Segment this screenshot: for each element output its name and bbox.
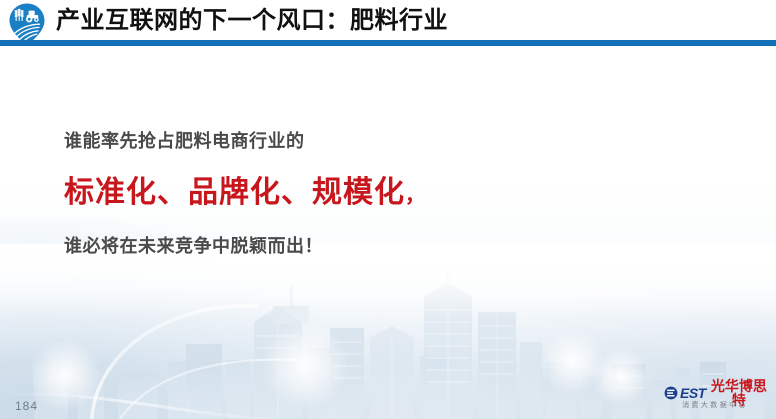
- brand-logo: EST 光华博思特 消费大数据中心: [664, 384, 768, 414]
- page-title: 产业互联网的下一个风口：肥料行业: [56, 6, 448, 36]
- best-logo-mark-icon: [664, 386, 678, 400]
- brand-logo-row: EST 光华博思特: [664, 384, 768, 401]
- brand-name-en: EST: [680, 386, 706, 400]
- body-line-2-comma: ，: [405, 185, 426, 207]
- page-number: 184: [15, 399, 38, 413]
- title-divider: [0, 40, 776, 46]
- body-line-2: 标准化、品牌化、规模化，: [64, 172, 664, 217]
- slide-body: 谁能率先抢占肥料电商行业的 标准化、品牌化、规模化， 谁必将在未来竞争中脱颖而出…: [64, 128, 664, 259]
- body-line-3: 谁必将在未来竞争中脱颖而出！: [64, 233, 664, 259]
- body-line-1: 谁能率先抢占肥料电商行业的: [64, 128, 664, 154]
- slide-canvas: 产业互联网的下一个风口：肥料行业 谁能率先抢占肥料电商行业的 标准化、品牌化、规…: [0, 0, 776, 419]
- body-line-2-highlight: 标准化、品牌化、规模化: [64, 176, 405, 209]
- slide-header: 产业互联网的下一个风口：肥料行业: [0, 0, 776, 47]
- city-skyline-illustration: [0, 244, 776, 419]
